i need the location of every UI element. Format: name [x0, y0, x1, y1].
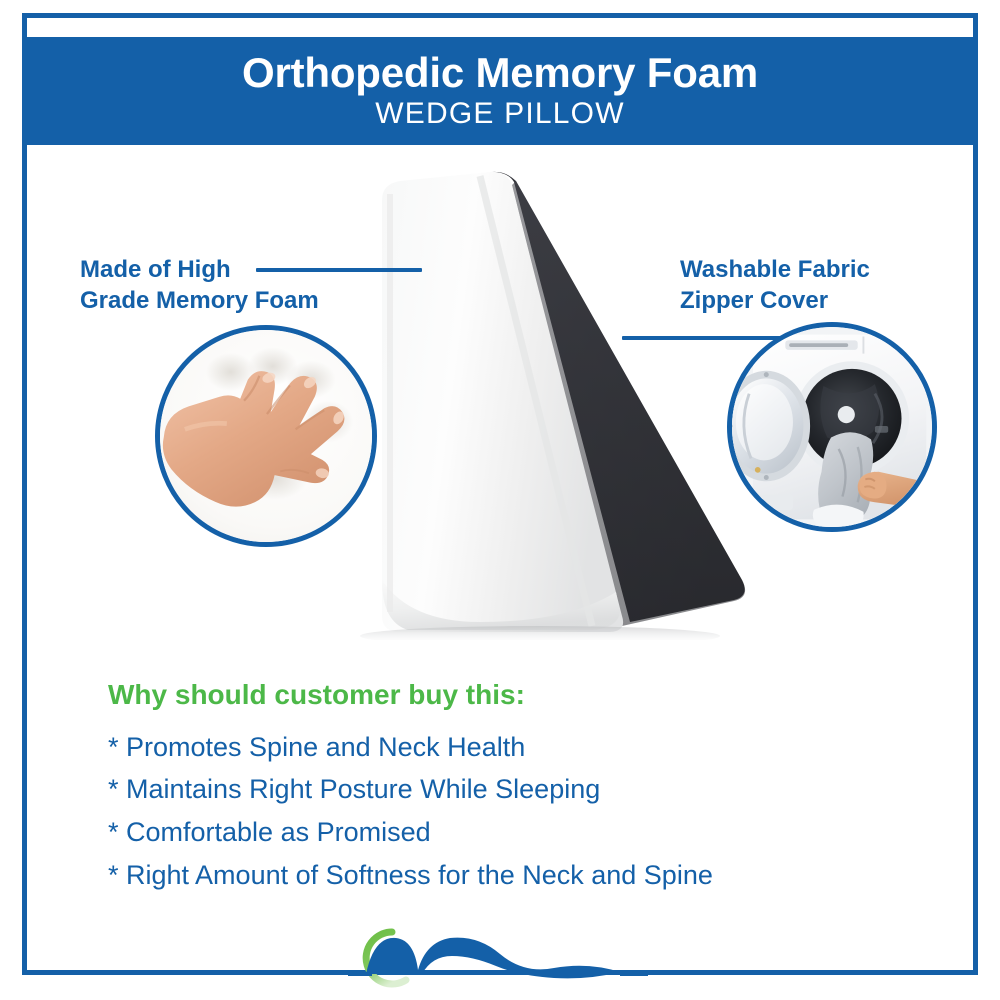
benefit-item: * Maintains Right Posture While Sleeping: [108, 768, 908, 811]
benefit-item: * Right Amount of Softness for the Neck …: [108, 854, 908, 897]
hand-pressing-foam-icon: [160, 330, 372, 542]
annotation-zipper-cover: Washable Fabric Zipper Cover: [680, 254, 870, 316]
wedge-pillow-illustration: [330, 160, 790, 640]
inset-photo-memory-foam: [155, 325, 377, 547]
benefit-item: * Comfortable as Promised: [108, 811, 908, 854]
wave-logo-icon: [348, 918, 648, 992]
brand-logo: [348, 918, 648, 992]
logo-blue-wave: [366, 938, 620, 979]
washing-machine-icon: [732, 327, 932, 527]
product-infographic: Orthopedic Memory Foam WEDGE PILLOW: [0, 0, 1000, 1000]
page-title: Orthopedic Memory Foam: [242, 51, 758, 95]
benefits-heading: Why should customer buy this:: [108, 678, 908, 712]
logo-rule-left: [348, 972, 372, 976]
inset-photo-washing-machine: [727, 322, 937, 532]
header-banner: Orthopedic Memory Foam WEDGE PILLOW: [25, 37, 975, 145]
annotation-memory-foam-line2: Grade Memory Foam: [80, 285, 319, 316]
benefits-section: Why should customer buy this: * Promotes…: [108, 678, 908, 896]
logo-rule-right: [620, 972, 648, 976]
annotation-zipper-cover-line2: Zipper Cover: [680, 285, 870, 316]
annotation-zipper-cover-line1: Washable Fabric: [680, 254, 870, 285]
benefit-item: * Promotes Spine and Neck Health: [108, 726, 908, 769]
annotation-memory-foam: Made of High Grade Memory Foam: [80, 254, 319, 316]
leader-line-memory-foam: [256, 268, 422, 272]
product-image: [330, 160, 790, 640]
page-subtitle: WEDGE PILLOW: [375, 97, 624, 132]
